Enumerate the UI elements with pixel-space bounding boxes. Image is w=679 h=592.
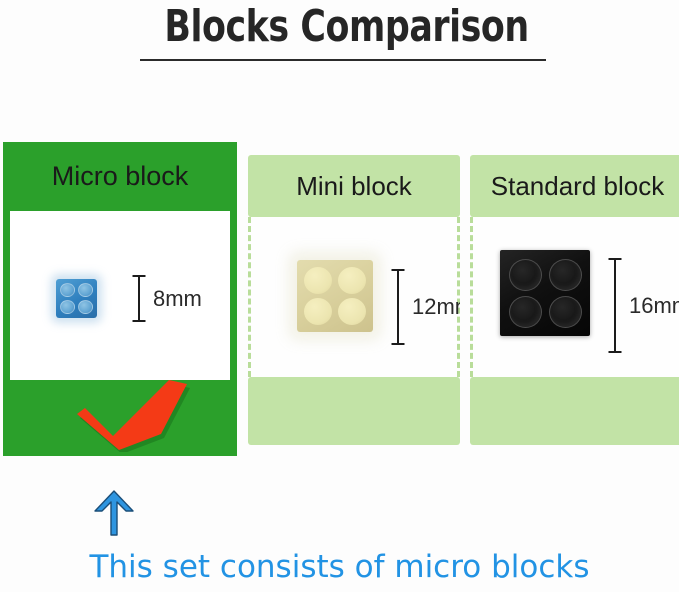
brick-stud xyxy=(304,298,332,325)
red-checkmark-icon xyxy=(73,378,191,452)
panel-standard-body: 16mm xyxy=(470,217,679,377)
brick-stud xyxy=(304,267,332,294)
panel-micro-header: Micro block xyxy=(3,142,237,211)
brick-stud xyxy=(338,298,366,325)
panel-mini-title: Mini block xyxy=(296,171,412,202)
panel-standard-header: Standard block xyxy=(470,155,679,217)
arrow-up-icon xyxy=(93,489,135,537)
dimension-ibeam-icon xyxy=(391,269,404,345)
micro-brick-image xyxy=(56,279,97,318)
micro-brick xyxy=(56,279,97,318)
brick-stud xyxy=(60,300,75,314)
panel-standard-title: Standard block xyxy=(491,171,664,202)
dimension-ibeam-icon xyxy=(132,275,145,322)
mini-dimension-group: 12mm xyxy=(391,269,460,345)
micro-size-label: 8mm xyxy=(153,286,202,312)
brick-stud xyxy=(60,283,75,297)
standard-dimension-group: 16mm xyxy=(608,258,679,353)
panel-mini-header: Mini block xyxy=(248,155,460,217)
panel-standard-bottom-band xyxy=(470,377,679,445)
brick-stud xyxy=(549,296,582,328)
brick-stud xyxy=(338,267,366,294)
brick-stud xyxy=(78,283,93,297)
panel-standard-block[interactable]: Standard block 16mm xyxy=(470,155,679,445)
mini-size-label: 12mm xyxy=(412,294,460,320)
title-underline-rule xyxy=(140,59,546,61)
brick-stud xyxy=(78,300,93,314)
brick-stud xyxy=(509,296,542,328)
mini-brick-image xyxy=(297,260,373,332)
panel-mini-body: 12mm xyxy=(248,217,460,377)
footer-caption: This set consists of micro blocks xyxy=(0,549,679,585)
mini-brick xyxy=(297,260,373,332)
standard-brick-image xyxy=(500,250,590,336)
panel-micro-block[interactable]: Micro block 8mm xyxy=(3,142,237,456)
comparison-infographic: Blocks Comparison Micro block xyxy=(0,0,679,592)
dimension-ibeam-icon xyxy=(608,258,621,353)
panel-mini-bottom-band xyxy=(248,377,460,445)
micro-dimension-group: 8mm xyxy=(132,275,237,322)
panel-micro-body: 8mm xyxy=(10,211,230,380)
brick-stud xyxy=(549,259,582,291)
page-title: Blocks Comparison xyxy=(164,2,521,52)
standard-brick xyxy=(500,250,590,336)
brick-stud xyxy=(509,259,542,291)
panel-micro-title: Micro block xyxy=(52,161,189,192)
title-block: Blocks Comparison xyxy=(140,2,546,64)
standard-size-label: 16mm xyxy=(629,293,679,319)
panel-mini-block[interactable]: Mini block 12mm xyxy=(248,155,460,445)
